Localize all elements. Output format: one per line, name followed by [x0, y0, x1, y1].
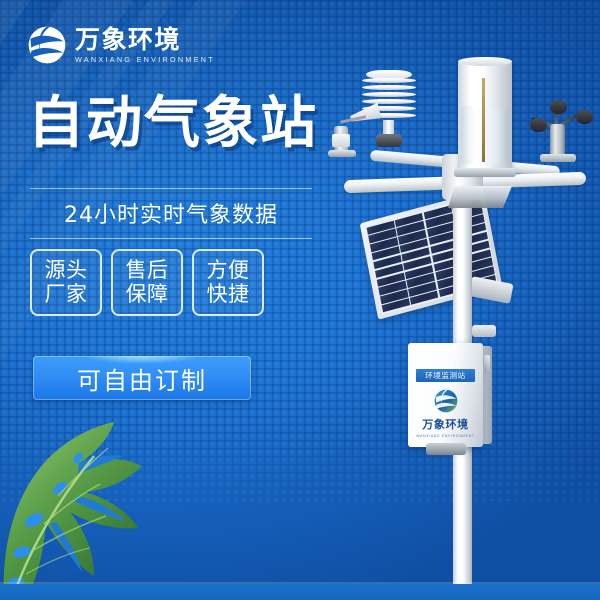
anemometer-body: [550, 124, 565, 156]
badge-line-2: 保障: [126, 283, 169, 307]
feature-badge[interactable]: 源头 厂家: [30, 249, 102, 316]
rain-gauge-glass: [461, 106, 509, 164]
tipping-plate: [448, 186, 512, 208]
anemometer-cup: [576, 110, 593, 124]
monstera-leaf: [0, 404, 202, 600]
anemometer: [526, 84, 592, 168]
subtitle-rule-bottom: [30, 238, 312, 239]
rain-gauge-needle: [482, 78, 485, 162]
solar-panel-bracket: [468, 276, 513, 304]
banner-canvas: 万象环境 WANXIANG ENVIRONMENT 自动气象站 24小时实时气象…: [0, 0, 600, 600]
enclosure-logo-cn: 万象环境: [422, 416, 468, 432]
feature-badge[interactable]: 方便 快捷: [192, 249, 264, 316]
feature-badge[interactable]: 售后 保障: [111, 249, 183, 316]
rain-gauge-rim: [458, 57, 512, 66]
enclosure-hinge: [484, 355, 490, 373]
wind-vane: [330, 106, 384, 178]
badge-line-2: 厂家: [45, 283, 88, 307]
subtitle-text: 24小时实时气象数据: [30, 189, 312, 238]
enclosure-banner: 环境监测站: [416, 369, 475, 382]
anemometer-cup: [530, 118, 547, 132]
enclosure-logo-en: WANXIANG ENVIRONMENT: [416, 434, 474, 438]
badge-line-1: 源头: [45, 259, 88, 283]
bottom-band: [0, 584, 600, 600]
subtitle-block: 24小时实时气象数据: [30, 188, 312, 239]
badge-line-1: 售后: [126, 259, 169, 283]
page-title: 自动气象站: [28, 96, 318, 152]
brand-name-cn: 万象环境: [75, 27, 215, 52]
rain-gauge: [458, 60, 512, 172]
globe-swirl-icon: [26, 24, 68, 66]
feature-badge-list: 源头 厂家 售后 保障 方便 快捷: [30, 249, 264, 316]
wind-vane-fin: [349, 103, 382, 126]
brand-name-en: WANXIANG ENVIRONMENT: [75, 56, 215, 63]
cta-label: 可自由订制: [77, 361, 207, 396]
wind-vane-cover: [332, 134, 350, 147]
rain-gauge-base: [454, 168, 516, 177]
solar-panel: [360, 190, 503, 319]
enclosure-box: 环境监测站: [408, 343, 483, 447]
badge-line-2: 快捷: [207, 283, 250, 307]
enclosure-clamp: [426, 443, 466, 455]
brand-logo: 万象环境 WANXIANG ENVIRONMENT: [26, 24, 215, 66]
weather-station-product: 环境监测站: [330, 58, 600, 600]
customize-cta-button[interactable]: 可自由订制: [33, 356, 251, 400]
enclosure-mount-arm: [472, 325, 496, 337]
anemometer-cup: [550, 100, 567, 114]
wind-vane-foot: [328, 150, 356, 157]
enclosure-globe-icon: [433, 388, 459, 414]
enclosure-logo: 万象环境 WANXIANG ENVIRONMENT: [408, 388, 483, 438]
anemometer-foot: [540, 154, 576, 162]
badge-line-1: 方便: [207, 259, 250, 283]
